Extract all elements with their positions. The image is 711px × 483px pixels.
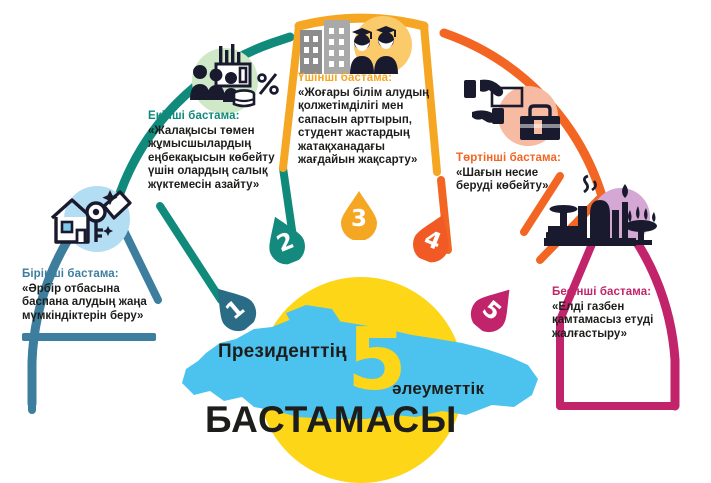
center-emblem: Президенттің 5 әлеуметтік БАСТАМАСЫ	[180, 255, 540, 461]
initiative-1-heading: Бірінші бастама:	[22, 268, 182, 281]
initiative-4-text: «Шағын несие беруді көбейту»	[456, 167, 606, 194]
initiative-card-3[interactable]: Үшінші бастама: «Жоғары білім алудың қол…	[298, 72, 440, 167]
initiative-4-heading: Төртінші бастама:	[456, 152, 606, 165]
infographic-poster: 1 2 3 4 5 Президенттің 5 ә	[0, 0, 711, 461]
microcredit-handshake-icon	[462, 72, 572, 152]
initiative-1-text: «Әрбір отбасына баспана алудың жаңа мүмк…	[22, 283, 182, 323]
center-title-block: Президенттің 5 әлеуметтік БАСТАМАСЫ	[180, 331, 540, 461]
title-president: Президенттің	[218, 341, 347, 363]
workers-factory-tax-icon	[186, 42, 286, 116]
initiative-3-heading: Үшінші бастама:	[298, 72, 440, 85]
initiative-card-1[interactable]: Бірінші бастама: «Әрбір отбасына баспана…	[22, 268, 182, 341]
house-key-icon	[46, 186, 132, 250]
university-graduates-icon	[296, 16, 412, 78]
marker-pin-3: 3	[340, 190, 378, 240]
initiative-card-5[interactable]: Бесінші бастама: «Елді газбен қамтамасыз…	[552, 286, 702, 341]
marker-pin-3-number: 3	[340, 190, 378, 240]
title-social: әлеуметтік	[392, 379, 484, 399]
initiative-card-4[interactable]: Төртінші бастама: «Шағын несие беруді кө…	[456, 152, 606, 194]
initiative-5-heading: Бесінші бастама:	[552, 286, 702, 299]
initiative-1-rule	[22, 333, 156, 341]
initiative-3-text: «Жоғары білім алудың қолжетімділігі мен …	[298, 87, 440, 167]
initiative-5-text: «Елді газбен қамтамасыз етуді жалғастыру…	[552, 301, 702, 341]
title-initiatives: БАСТАМАСЫ	[205, 400, 457, 440]
